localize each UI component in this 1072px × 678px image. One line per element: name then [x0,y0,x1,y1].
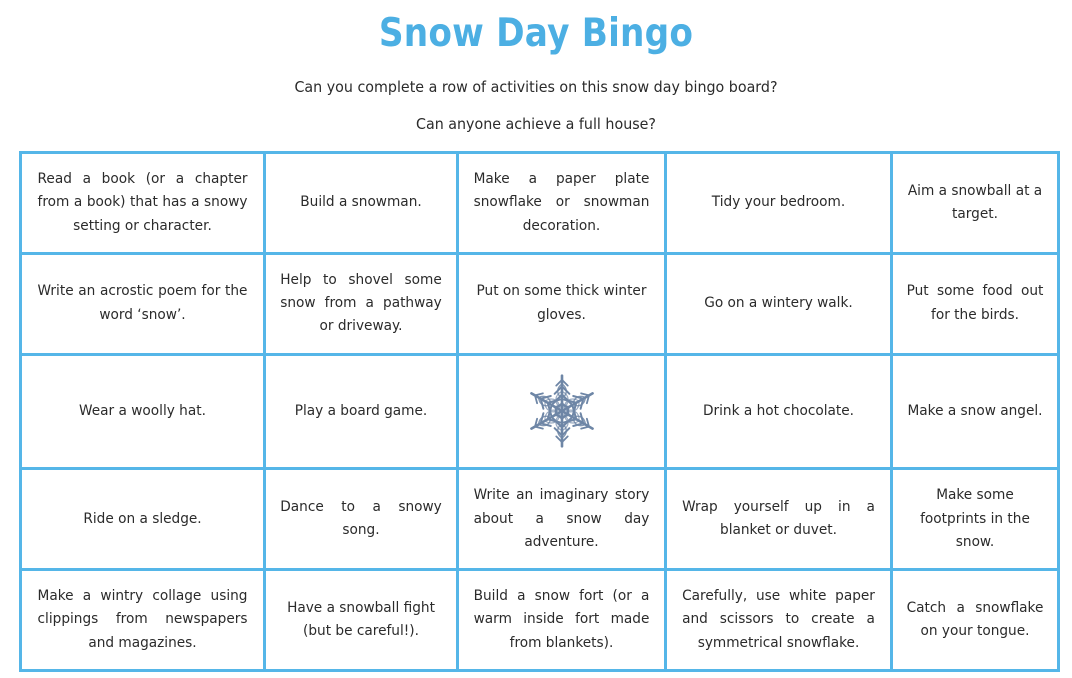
bingo-cell-label: Help to shovel some snow from a pathway … [280,269,442,339]
instruction-line-1: Can you complete a row of activities on … [43,80,1029,96]
bingo-cell-label: Put on some thick winter gloves. [474,280,650,327]
bingo-cell[interactable]: Tidy your bedroom. [666,153,892,254]
bingo-cell-label: Go on a wintery walk. [682,292,875,315]
bingo-cell[interactable]: Dance to a snowy song. [265,469,458,570]
bingo-cell-label: Have a snowball fight (but be careful!). [280,597,442,644]
bingo-cell-label: Write an imaginary story about a snow da… [474,484,650,554]
bingo-cell-label: Ride on a sledge. [38,508,248,531]
bingo-cell[interactable]: Go on a wintery walk. [666,253,892,354]
bingo-board: Read a book (or a chapter from a book) t… [19,151,1057,672]
bingo-cell[interactable]: Write an acrostic poem for the word ‘sno… [21,253,265,354]
bingo-cell[interactable]: Ride on a sledge. [21,469,265,570]
bingo-cell-label: Drink a hot chocolate. [682,400,875,423]
bingo-cell[interactable]: Catch a snowflake on your tongue. [892,570,1059,671]
bingo-cell-label: Make some footprints in the snow. [907,484,1044,554]
bingo-cell-label: Catch a snowflake on your tongue. [907,597,1044,644]
snowflake-icon [469,362,654,462]
bingo-cell-label: Dance to a snowy song. [280,496,442,543]
bingo-worksheet-page: Snow Day Bingo Can you complete a row of… [0,0,1072,678]
bingo-cell-label: Wrap yourself up in a blanket or duvet. [682,496,875,543]
bingo-cell[interactable]: Make a snow angel. [892,354,1059,469]
bingo-row: Ride on a sledge.Dance to a snowy song.W… [21,469,1059,570]
bingo-cell-label: Carefully, use white paper and scissors … [682,585,875,655]
bingo-cell[interactable]: Help to shovel some snow from a pathway … [265,253,458,354]
bingo-cell-label: Read a book (or a chapter from a book) t… [38,168,248,238]
bingo-cell[interactable]: Make a paper plate snowflake or snowman … [458,153,666,254]
page-header: Snow Day Bingo Can you complete a row of… [0,0,1072,132]
bingo-cell-label: Wear a woolly hat. [38,400,248,423]
bingo-cell[interactable]: Build a snowman. [265,153,458,254]
bingo-cell[interactable]: Write an imaginary story about a snow da… [458,469,666,570]
bingo-row: Wear a woolly hat.Play a board game.Drin… [21,354,1059,469]
instruction-line-2: Can anyone achieve a full house? [43,117,1029,133]
bingo-cell-label: Build a snowman. [280,191,442,214]
bingo-cell-label: Play a board game. [280,400,442,423]
bingo-cell-label: Make a wintry collage using clippings fr… [38,585,248,655]
page-title: Snow Day Bingo [64,14,1007,53]
bingo-cell-label: Write an acrostic poem for the word ‘sno… [38,280,248,327]
bingo-cell-label: Build a snow fort (or a warm inside fort… [474,585,650,655]
bingo-cell[interactable]: Make some footprints in the snow. [892,469,1059,570]
bingo-cell[interactable]: Aim a snowball at a target. [892,153,1059,254]
bingo-row: Make a wintry collage using clippings fr… [21,570,1059,671]
bingo-row: Write an acrostic poem for the word ‘sno… [21,253,1059,354]
bingo-cell[interactable]: Have a snowball fight (but be careful!). [265,570,458,671]
bingo-cell-label: Aim a snowball at a target. [907,180,1044,227]
bingo-cell-label: Make a paper plate snowflake or snowman … [474,168,650,238]
bingo-cell[interactable]: Read a book (or a chapter from a book) t… [21,153,265,254]
bingo-cell[interactable]: Carefully, use white paper and scissors … [666,570,892,671]
bingo-cell[interactable]: Wear a woolly hat. [21,354,265,469]
bingo-cell[interactable]: Put some food out for the birds. [892,253,1059,354]
bingo-cell[interactable]: Make a wintry collage using clippings fr… [21,570,265,671]
bingo-cell-free-space[interactable] [458,354,666,469]
bingo-cell[interactable]: Wrap yourself up in a blanket or duvet. [666,469,892,570]
bingo-cell[interactable]: Build a snow fort (or a warm inside fort… [458,570,666,671]
bingo-cell[interactable]: Play a board game. [265,354,458,469]
bingo-cell[interactable]: Drink a hot chocolate. [666,354,892,469]
bingo-row: Read a book (or a chapter from a book) t… [21,153,1059,254]
bingo-cell-label: Put some food out for the birds. [907,280,1044,327]
bingo-cell-label: Tidy your bedroom. [682,191,875,214]
bingo-cell-label: Make a snow angel. [907,400,1044,423]
bingo-cell[interactable]: Put on some thick winter gloves. [458,253,666,354]
bingo-grid: Read a book (or a chapter from a book) t… [19,151,1060,672]
